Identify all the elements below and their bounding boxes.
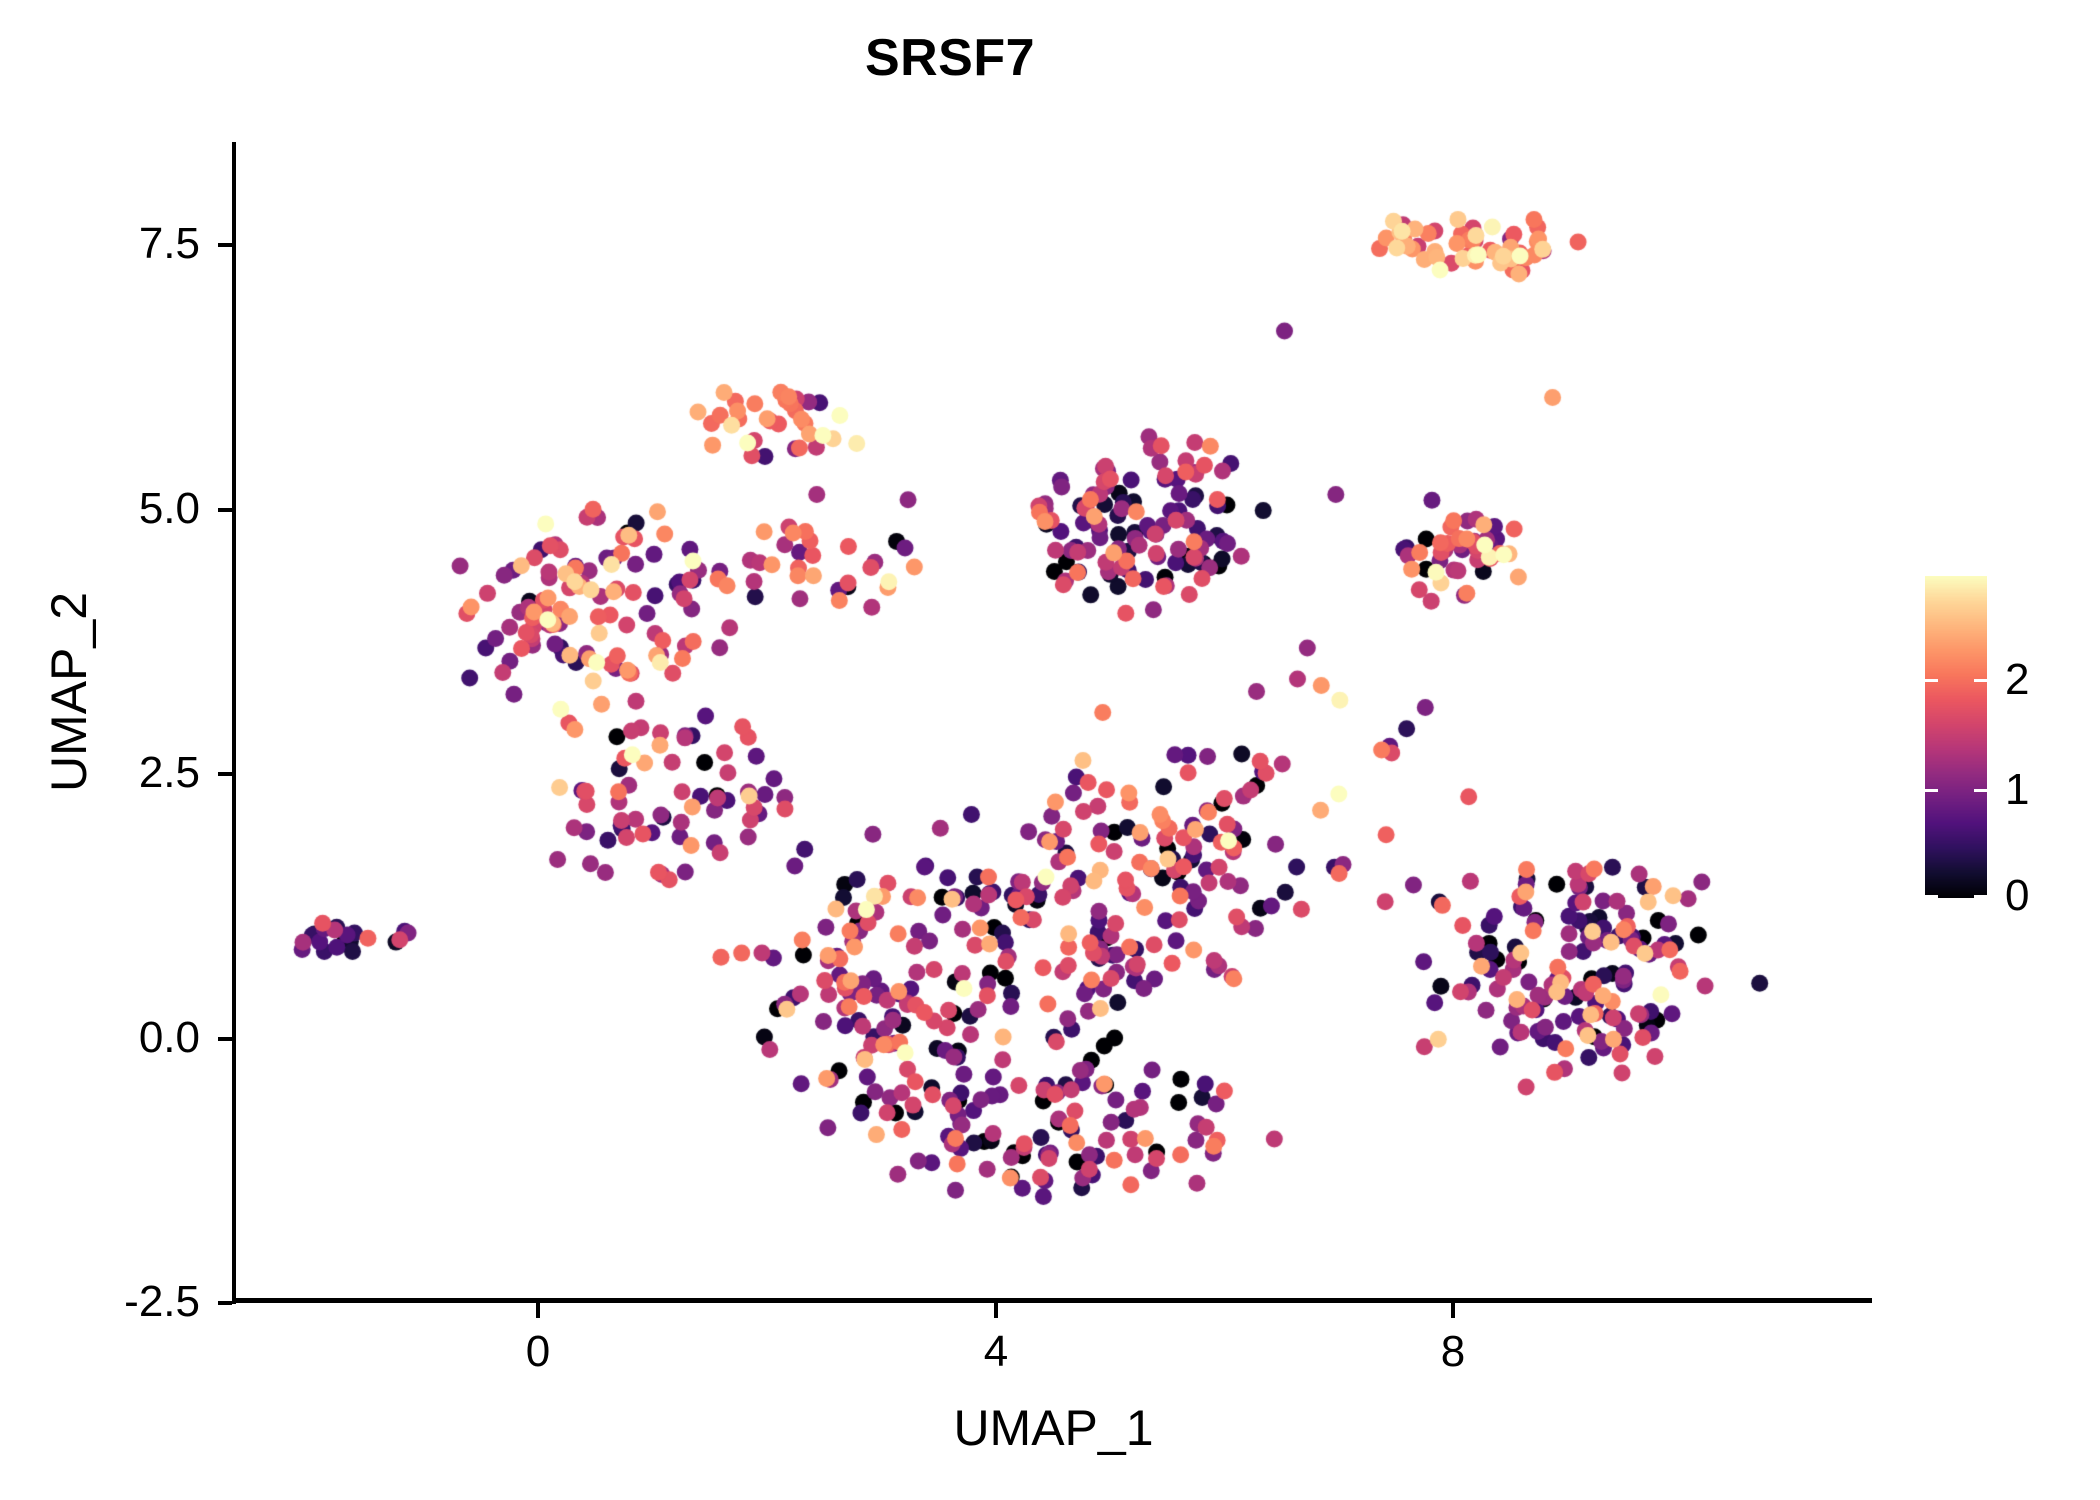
- x-tick-mark-4: [994, 1303, 998, 1318]
- colorbar-tick-0-right: [1974, 895, 1987, 898]
- colorbar-label-1: 1: [2005, 768, 2085, 812]
- y-tick-mark-0.0: [218, 1037, 232, 1041]
- y-axis-line: [232, 142, 236, 1304]
- y-tick-mark-5.0: [218, 508, 232, 512]
- x-axis-title: UMAP_1: [235, 1400, 1872, 1456]
- colorbar-tick-1-right: [1974, 789, 1987, 792]
- x-tick-label-8: 8: [1393, 1330, 1513, 1374]
- colorbar-tick-2-right: [1974, 679, 1987, 682]
- x-tick-label-0: 0: [478, 1330, 598, 1374]
- x-tick-mark-8: [1451, 1303, 1455, 1318]
- colorbar-legend: 2 1 0: [1925, 576, 2095, 906]
- colorbar-label-0: 0: [2005, 874, 2085, 918]
- y-tick-mark-2.5: [218, 772, 232, 776]
- x-axis-line: [232, 1298, 1872, 1303]
- y-tick-label-2.5: 2.5: [0, 751, 200, 795]
- x-tick-mark-0: [536, 1303, 540, 1318]
- scatter-plot-canvas: [235, 142, 1872, 1302]
- plot-panel: [235, 142, 1872, 1302]
- y-axis-title: UMAP_2: [41, 342, 97, 1042]
- y-tick-label-7.5: 7.5: [0, 222, 200, 266]
- x-tick-label-4: 4: [936, 1330, 1056, 1374]
- colorbar-label-2: 2: [2005, 658, 2085, 702]
- y-tick-label--2.5: -2.5: [0, 1280, 200, 1324]
- colorbar-tick-0-left: [1925, 895, 1938, 898]
- y-tick-label-5.0: 5.0: [0, 487, 200, 531]
- y-tick-mark-7.5: [218, 243, 232, 247]
- colorbar-tick-1-left: [1925, 789, 1938, 792]
- umap-feature-plot: SRSF7 7.5 5.0 2.5 0.0 -2.5 0 4 8 UMAP_1 …: [0, 0, 2100, 1500]
- y-tick-mark--2.5: [218, 1301, 232, 1305]
- page-title: SRSF7: [0, 28, 1900, 88]
- y-tick-label-0.0: 0.0: [0, 1016, 200, 1060]
- colorbar-gradient: [1925, 576, 1987, 898]
- colorbar-tick-2-left: [1925, 679, 1938, 682]
